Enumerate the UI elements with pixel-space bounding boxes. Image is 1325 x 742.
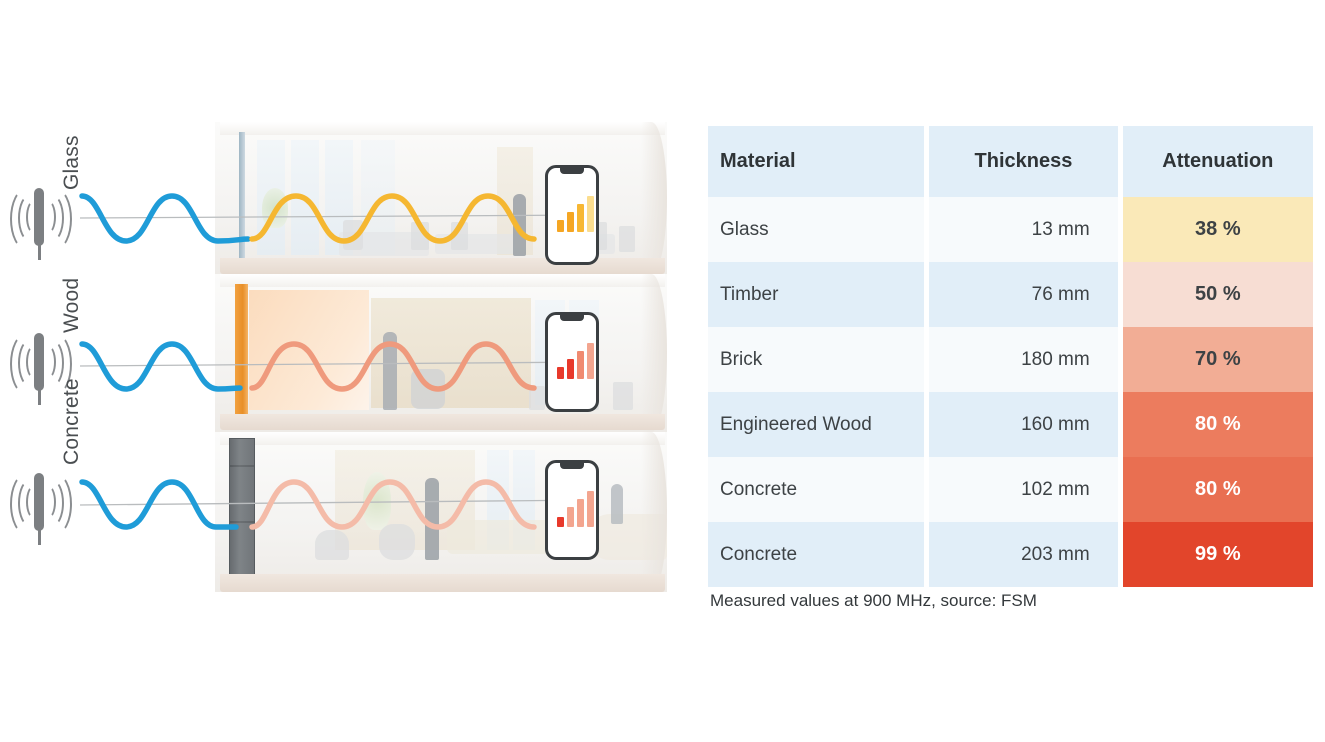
cell-material: Concrete [708,522,924,587]
wave-incoming-concrete [82,482,236,527]
cell-material: Timber [708,262,924,327]
column-header-attenuation: Attenuation [1123,126,1313,197]
cell-thickness: 160 mm [929,392,1118,457]
building-cutaway-illustration [215,122,685,592]
antenna-stem [38,244,41,260]
sidebar-item-wood: Wood [60,278,84,333]
phone-glass [545,165,599,265]
attenuation-infographic: Glass Wood Concrete [0,0,1325,742]
phone-wood [545,312,599,412]
signal-bar [587,343,594,379]
phone-notch [560,168,584,174]
signal-bar [557,220,564,232]
cell-attenuation: 38 % [1123,197,1313,262]
signal-bar [567,359,574,379]
signal-bar [577,204,584,232]
table-row: Concrete 102 mm 80 % [708,457,1313,522]
cell-material: Glass [708,197,924,262]
table-footnote: Measured values at 900 MHz, source: FSM [710,591,1037,611]
column-header-material: Material [708,126,924,197]
sidebar-item-concrete: Concrete [60,378,84,465]
table-row: Brick 180 mm 70 % [708,327,1313,392]
person-figure [383,332,397,410]
floor-wood [215,274,667,432]
cell-attenuation: 70 % [1123,327,1313,392]
signal-bar [567,507,574,527]
table-row: Concrete 203 mm 99 % [708,522,1313,587]
antenna-icon-wood [8,325,68,425]
table-row: Timber 76 mm 50 % [708,262,1313,327]
cell-thickness: 102 mm [929,457,1118,522]
sidebar-item-glass: Glass [60,135,84,190]
cell-thickness: 76 mm [929,262,1118,327]
signal-bars-wood [557,343,594,379]
table-header-row: Material Thickness Attenuation [708,126,1313,197]
glass-wall [239,132,245,274]
table-row: Engineered Wood 160 mm 80 % [708,392,1313,457]
cell-material: Concrete [708,457,924,522]
concrete-wall [229,438,255,578]
antenna-icon-glass [8,180,68,280]
person-figure [425,478,439,560]
antenna-stem [38,389,41,405]
signal-bar [587,491,594,527]
cell-thickness: 13 mm [929,197,1118,262]
signal-bar [557,517,564,527]
cell-thickness: 180 mm [929,327,1118,392]
signal-bar [577,499,584,527]
floor-concrete [215,432,667,592]
attenuation-table: Material Thickness Attenuation Glass 13 … [708,126,1313,587]
phone-concrete [545,460,599,560]
wood-wall [235,284,248,424]
cell-attenuation: 80 % [1123,457,1313,522]
signal-bars-glass [557,196,594,232]
cell-attenuation: 99 % [1123,522,1313,587]
cell-material: Engineered Wood [708,392,924,457]
signal-bar [557,367,564,379]
cell-attenuation: 80 % [1123,392,1313,457]
cell-attenuation: 50 % [1123,262,1313,327]
person-figure [513,194,526,256]
antenna-stem [38,529,41,545]
signal-bar [567,212,574,232]
floor-glass [215,122,667,274]
cell-thickness: 203 mm [929,522,1118,587]
signal-bar [577,351,584,379]
person-figure [611,484,623,524]
antenna-icon-concrete [8,465,68,565]
phone-notch [560,315,584,321]
column-header-thickness: Thickness [929,126,1117,197]
signal-bars-concrete [557,491,594,527]
cell-material: Brick [708,327,924,392]
signal-bar [587,196,594,232]
phone-notch [560,463,584,469]
table-row: Glass 13 mm 38 % [708,197,1313,262]
